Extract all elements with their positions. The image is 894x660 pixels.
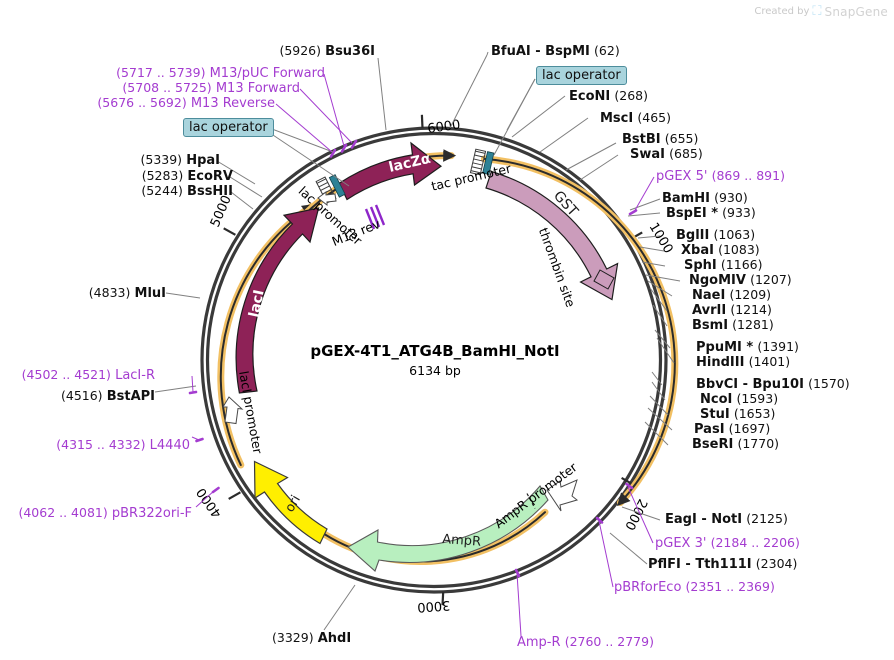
enzyme-label-bsmi[interactable]: BsmI (1281)	[692, 318, 774, 333]
enzyme-label-ngomiv[interactable]: NgoMIV (1207)	[689, 273, 792, 288]
enzyme-label-eagi-noti[interactable]: EagI - NotI (2125)	[665, 512, 788, 527]
feature-ori[interactable]: ori	[255, 462, 328, 544]
enzyme-label-bglii[interactable]: BglII (1063)	[676, 228, 755, 243]
enzyme-label-bsshii[interactable]: (5244) BssHII	[60, 184, 233, 199]
enzyme-label-mlui[interactable]: (4833) MluI	[20, 286, 166, 301]
enzyme-label-ahdi[interactable]: (3329) AhdI	[272, 631, 351, 646]
leader-lines	[155, 52, 680, 630]
enzyme-label-ncoi[interactable]: NcoI (1593)	[700, 392, 778, 407]
snapgene-bookmark-icon: ⛶	[812, 4, 821, 19]
enzyme-label-bbvci-bpu10i[interactable]: BbvCI - Bpu10I (1570)	[696, 377, 850, 392]
primer-label-amp-r[interactable]: Amp-R (2760 .. 2779)	[517, 635, 654, 650]
enzyme-label-bspei[interactable]: BspEI * (933)	[666, 206, 756, 221]
feature-lacz-alpha[interactable]: lacZα	[339, 143, 441, 200]
enzyme-label-xbai[interactable]: XbaI (1083)	[681, 243, 760, 258]
enzyme-label-msci[interactable]: MscI (465)	[600, 111, 671, 126]
enzyme-label-avrii[interactable]: AvrII (1214)	[692, 303, 772, 318]
svg-text:1000: 1000	[646, 220, 676, 256]
enzyme-label-stui[interactable]: StuI (1653)	[700, 407, 775, 422]
watermark-brand: SnapGene	[825, 5, 888, 19]
primer-label-pbrforeco[interactable]: pBRforEco (2351 .. 2369)	[614, 580, 775, 595]
svg-text:3000: 3000	[417, 597, 451, 614]
enzyme-label-hindiii[interactable]: HindIII (1401)	[696, 355, 790, 370]
primer-label-m13-puc-forward[interactable]: (5717 .. 5739) M13/pUC Forward	[60, 66, 325, 81]
lac-operator-label-left[interactable]: lac operator	[183, 118, 274, 137]
enzyme-label-bamhi[interactable]: BamHI (930)	[662, 191, 748, 206]
watermark-created-by: Created by	[754, 6, 809, 17]
enzyme-label-bfuai-bspmi[interactable]: BfuAI - BspMI (62)	[491, 44, 620, 59]
enzyme-label-swai[interactable]: SwaI (685)	[630, 147, 703, 162]
enzyme-label-hpai[interactable]: (5339) HpaI	[65, 153, 220, 168]
enzyme-label-naei[interactable]: NaeI (1209)	[692, 288, 771, 303]
plasmid-backbone	[202, 128, 666, 592]
enzyme-label-pasi[interactable]: PasI (1697)	[694, 422, 770, 437]
snapgene-watermark: Created by ⛶ SnapGene	[754, 4, 888, 19]
enzyme-label-bseri[interactable]: BseRI (1770)	[692, 437, 779, 452]
enzyme-label-sphi[interactable]: SphI (1166)	[684, 258, 762, 273]
enzyme-label-econi[interactable]: EcoNI (268)	[569, 89, 648, 104]
enzyme-label-ppumi[interactable]: PpuMI * (1391)	[696, 340, 799, 355]
primer-label-laci-r[interactable]: (4502 .. 4521) LacI-R	[0, 368, 155, 383]
primer-label-pbr322ori-f[interactable]: (4062 .. 4081) pBR322ori-F	[0, 506, 192, 521]
lac-operator-label-right[interactable]: lac operator	[536, 66, 627, 85]
enzyme-label-bsu36i[interactable]: (5926) Bsu36I	[180, 44, 375, 59]
primer-label-pgex-5prime[interactable]: pGEX 5' (869 .. 891)	[656, 169, 785, 184]
primer-label-m13-forward[interactable]: (5708 .. 5725) M13 Forward	[60, 81, 300, 96]
page-title: pGEX-4T1_ATG4B_BamHI_NotI	[235, 342, 635, 360]
enzyme-label-bstbi[interactable]: BstBI (655)	[622, 132, 698, 147]
primer-label-pgex-3prime[interactable]: pGEX 3' (2184 .. 2206)	[655, 536, 800, 551]
enzyme-label-pflfi-tth111i[interactable]: PflFI - Tth111I (2304)	[648, 557, 797, 572]
primer-label-m13-reverse[interactable]: (5676 .. 5692) M13 Reverse	[50, 96, 275, 111]
plasmid-size: 6134 bp	[235, 363, 635, 378]
enzyme-label-ecorv[interactable]: (5283) EcoRV	[65, 169, 233, 184]
svg-text:AmpR: AmpR	[442, 532, 482, 550]
enzyme-label-bstapi[interactable]: (4516) BstAPI	[0, 389, 155, 404]
primer-label-l4440[interactable]: (4315 .. 4332) L4440	[0, 438, 190, 453]
svg-text:4000: 4000	[194, 485, 225, 521]
